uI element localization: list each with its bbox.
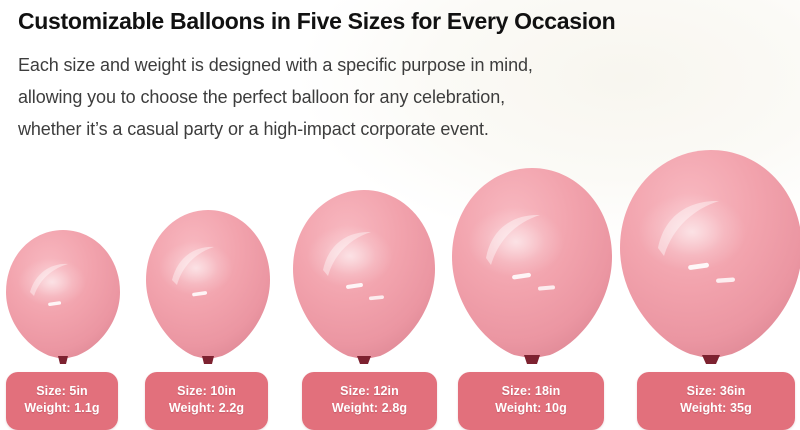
size-label-5in[interactable]: Size: 5in Weight: 1.1g xyxy=(6,372,118,430)
size-label-weight-text: Weight: 35g xyxy=(637,400,795,417)
size-label-size-text: Size: 5in xyxy=(6,383,118,400)
size-label-weight-text: Weight: 2.2g xyxy=(145,400,268,417)
size-label-18in[interactable]: Size: 18in Weight: 10g xyxy=(458,372,604,430)
size-label-size-text: Size: 10in xyxy=(145,383,268,400)
size-label-weight-text: Weight: 1.1g xyxy=(6,400,118,417)
size-label-36in[interactable]: Size: 36in Weight: 35g xyxy=(637,372,795,430)
size-label-12in[interactable]: Size: 12in Weight: 2.8g xyxy=(302,372,437,430)
size-label-size-text: Size: 18in xyxy=(458,383,604,400)
size-label-row: Size: 5in Weight: 1.1g Size: 10in Weight… xyxy=(0,0,800,430)
size-label-10in[interactable]: Size: 10in Weight: 2.2g xyxy=(145,372,268,430)
balloon-size-chart-page: Customizable Balloons in Five Sizes for … xyxy=(0,0,800,430)
size-label-size-text: Size: 36in xyxy=(637,383,795,400)
size-label-weight-text: Weight: 2.8g xyxy=(302,400,437,417)
size-label-weight-text: Weight: 10g xyxy=(458,400,604,417)
size-label-size-text: Size: 12in xyxy=(302,383,437,400)
